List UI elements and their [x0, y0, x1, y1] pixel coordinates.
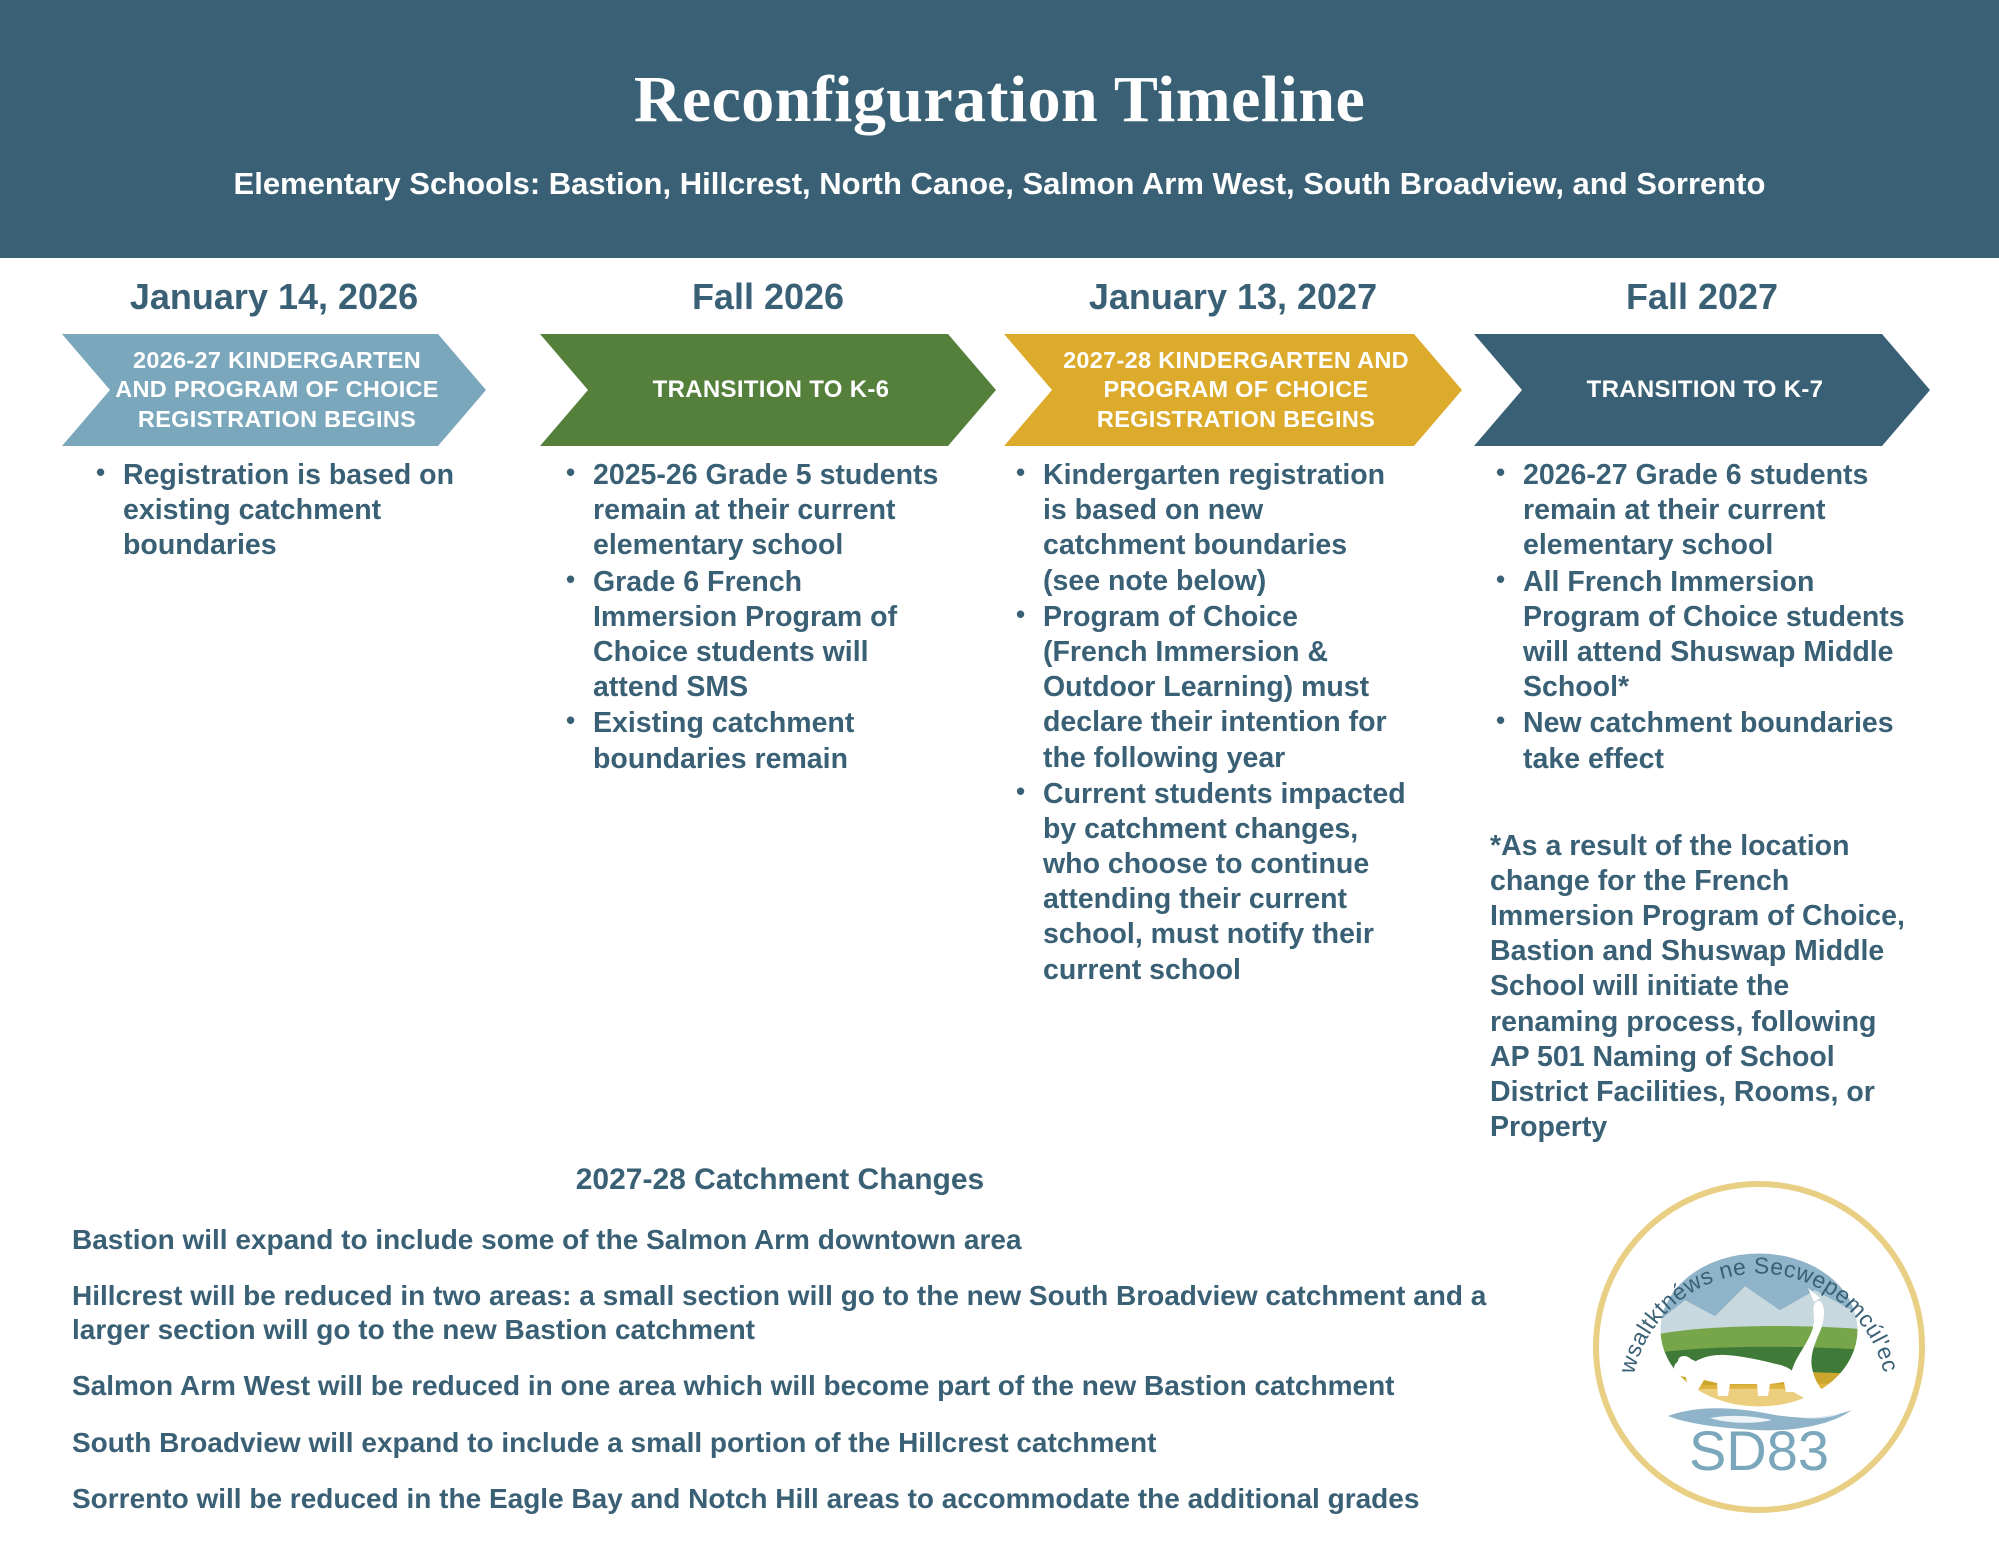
- page-header: Reconfiguration Timeline Elementary Scho…: [0, 0, 1999, 258]
- list-item: Kindergarten registration is based on ne…: [1010, 458, 1410, 599]
- timeline-column-1: Registration is based on existing catchm…: [90, 458, 470, 565]
- timeline-banner-1-label: 2026-27 KINDERGARTEN AND PROGRAM OF CHOI…: [114, 346, 440, 435]
- renaming-footnote: *As a result of the location change for …: [1490, 829, 1910, 1146]
- list-item: Registration is based on existing catchm…: [90, 458, 470, 564]
- list-item: Program of Choice (French Immersion & Ou…: [1010, 600, 1410, 776]
- bullet-list-1: Registration is based on existing catchm…: [90, 458, 470, 564]
- timeline-banner-3-label: 2027-28 KINDERGARTEN AND PROGRAM OF CHOI…: [1056, 346, 1416, 435]
- bullet-list-4: 2026-27 Grade 6 students remain at their…: [1490, 458, 1910, 777]
- timeline-column-4: 2026-27 Grade 6 students remain at their…: [1490, 458, 1910, 1145]
- timeline-banner-1: 2026-27 KINDERGARTEN AND PROGRAM OF CHOI…: [62, 334, 486, 446]
- sd83-logo: Ḱwsaltktnéws ne Secwepemcúl'ecw SD83: [1590, 1178, 1928, 1516]
- timeline-band: January 14, 2026 2026-27 KINDERGARTEN AN…: [0, 258, 1999, 458]
- bullet-list-2: 2025-26 Grade 5 students remain at their…: [560, 458, 950, 777]
- list-item: Current students impacted by catchment c…: [1010, 777, 1410, 988]
- page-subtitle: Elementary Schools: Bastion, Hillcrest, …: [234, 166, 1766, 202]
- list-item: All French Immersion Program of Choice s…: [1490, 565, 1910, 706]
- timeline-banner-4-label: TRANSITION TO K-7: [1587, 375, 1824, 405]
- timeline-banner-3: 2027-28 KINDERGARTEN AND PROGRAM OF CHOI…: [1004, 334, 1462, 446]
- catchment-changes-list: Bastion will expand to include some of t…: [0, 1223, 1560, 1516]
- list-item: South Broadview will expand to include a…: [72, 1426, 1560, 1460]
- timeline-date-1: January 14, 2026: [62, 276, 486, 318]
- timeline-banner-2: TRANSITION TO K-6: [540, 334, 996, 446]
- bullet-list-3: Kindergarten registration is based on ne…: [1010, 458, 1410, 988]
- timeline-column-2: 2025-26 Grade 5 students remain at their…: [560, 458, 950, 778]
- catchment-changes-title: 2027-28 Catchment Changes: [0, 1163, 1560, 1197]
- list-item: Bastion will expand to include some of t…: [72, 1223, 1560, 1257]
- list-item: Grade 6 French Immersion Program of Choi…: [560, 565, 950, 706]
- timeline-date-4: Fall 2027: [1474, 276, 1930, 318]
- list-item: 2026-27 Grade 6 students remain at their…: [1490, 458, 1910, 564]
- list-item: Sorrento will be reduced in the Eagle Ba…: [72, 1482, 1560, 1516]
- timeline-date-3: January 13, 2027: [1004, 276, 1462, 318]
- timeline-column-3: Kindergarten registration is based on ne…: [1010, 458, 1410, 989]
- page-title: Reconfiguration Timeline: [634, 62, 1365, 138]
- list-item: New catchment boundaries take effect: [1490, 706, 1910, 776]
- infographic-page: Reconfiguration Timeline Elementary Scho…: [0, 0, 1999, 1545]
- timeline-detail-columns: Registration is based on existing catchm…: [0, 458, 1999, 1158]
- sd83-logo-icon: Ḱwsaltktnéws ne Secwepemcúl'ecw SD83: [1590, 1178, 1928, 1516]
- list-item: 2025-26 Grade 5 students remain at their…: [560, 458, 950, 564]
- list-item: Existing catchment boundaries remain: [560, 706, 950, 776]
- timeline-date-2: Fall 2026: [540, 276, 996, 318]
- logo-district-label: SD83: [1689, 1419, 1829, 1482]
- catchment-changes-section: 2027-28 Catchment Changes Bastion will e…: [0, 1163, 1560, 1538]
- list-item: Salmon Arm West will be reduced in one a…: [72, 1369, 1560, 1403]
- list-item: Hillcrest will be reduced in two areas: …: [72, 1279, 1560, 1347]
- timeline-banner-2-label: TRANSITION TO K-6: [653, 375, 890, 405]
- timeline-banner-4: TRANSITION TO K-7: [1474, 334, 1930, 446]
